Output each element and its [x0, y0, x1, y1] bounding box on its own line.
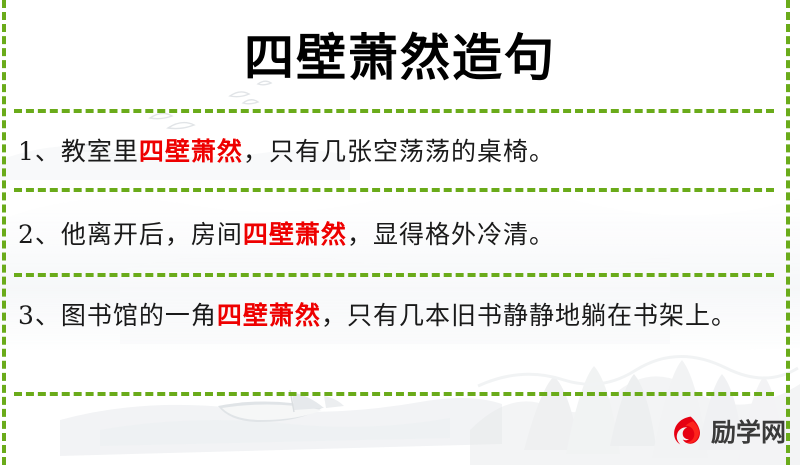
- sentence-text-after: ，显得格外冷清。: [347, 220, 555, 249]
- sentence-text-after: ，只有几本旧书静静地躺在书架上。: [321, 301, 737, 330]
- sentence-text-before: 教室里: [61, 137, 139, 166]
- flame-swirl-icon: [667, 413, 705, 451]
- sentence-text-before: 他离开后，房间: [61, 220, 243, 249]
- watermark-boat: [40, 360, 510, 465]
- sentence-text-before: 图书馆的一角: [61, 301, 217, 330]
- page-title: 四壁萧然造句: [0, 28, 800, 88]
- list-item: 1、教室里四壁萧然，只有几张空荡荡的桌椅。: [18, 129, 766, 175]
- sentence-index: 1、: [18, 137, 61, 166]
- sentence-text-after: ，只有几张空荡荡的桌椅。: [243, 137, 555, 166]
- list-item: 2、他离开后，房间四壁萧然，显得格外冷清。: [18, 212, 766, 258]
- divider-3: [14, 273, 774, 277]
- sentence-index: 2、: [18, 220, 61, 249]
- site-logo[interactable]: 励学网: [667, 413, 786, 451]
- keyword-highlight: 四壁萧然: [217, 301, 321, 330]
- sentence-index: 3、: [18, 301, 61, 330]
- site-logo-text: 励学网: [711, 420, 786, 445]
- divider-2: [14, 188, 774, 192]
- divider-1: [14, 109, 774, 113]
- list-item: 3、图书馆的一角四壁萧然，只有几本旧书静静地躺在书架上。: [18, 293, 766, 339]
- keyword-highlight: 四壁萧然: [139, 137, 243, 166]
- keyword-highlight: 四壁萧然: [243, 220, 347, 249]
- sentence-example-page: 四壁萧然造句 1、教室里四壁萧然，只有几张空荡荡的桌椅。 2、他离开后，房间四壁…: [0, 0, 800, 465]
- divider-4: [14, 392, 774, 396]
